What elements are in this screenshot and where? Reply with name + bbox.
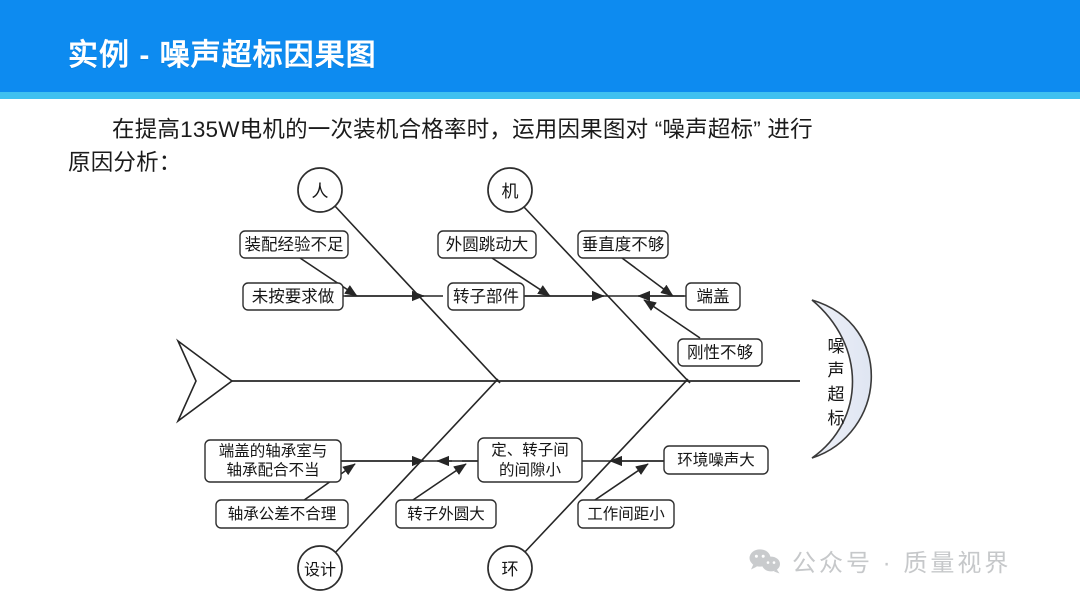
label-chuizhidu: 垂直度不够 bbox=[582, 235, 665, 254]
label-circle-ren: 人 bbox=[312, 182, 329, 201]
label-gangxing: 刚性不够 bbox=[687, 343, 753, 362]
label-duangai-zhoucheng-l1: 端盖的轴承室与 bbox=[219, 442, 328, 460]
cause-boxes bbox=[205, 231, 768, 528]
label-zhoucheng-gongcha: 轴承公差不合理 bbox=[228, 505, 337, 523]
arrow-zhuanzi-waiyuan bbox=[410, 464, 466, 502]
fishbone-diagram: 人 机 设计 环 装配经验不足 未按要求做 外圆跳动大 转子部件 垂直度不够 端… bbox=[0, 0, 1080, 607]
label-huanjing-zaosheng: 环境噪声大 bbox=[677, 450, 755, 469]
label-weian: 未按要求做 bbox=[252, 287, 335, 306]
label-effect-char-3: 超 bbox=[828, 385, 845, 404]
label-waiyuan: 外圆跳动大 bbox=[446, 235, 529, 254]
arrow-chuizhidu bbox=[622, 258, 673, 296]
label-circle-sheji: 设计 bbox=[304, 561, 336, 579]
label-zhuangpei: 装配经验不足 bbox=[245, 235, 344, 254]
label-circle-ji: 机 bbox=[502, 182, 519, 201]
label-ding-zhuanzi-l2: 的间隙小 bbox=[499, 461, 562, 479]
watermark: 公众号 · 质量视界 bbox=[748, 543, 1011, 578]
label-effect-char-1: 噪 bbox=[828, 337, 845, 356]
label-zhuanzi-bujian: 转子部件 bbox=[453, 287, 519, 306]
wechat-icon bbox=[748, 548, 782, 574]
label-gongzuo-jianju: 工作间距小 bbox=[587, 505, 665, 523]
arrow-gongzuo bbox=[592, 464, 648, 502]
label-circle-huan: 环 bbox=[502, 560, 519, 579]
label-zhuanzi-waiyuan: 转子外圆大 bbox=[407, 505, 485, 523]
label-effect-char-4: 标 bbox=[828, 409, 845, 428]
label-effect-char-2: 声 bbox=[828, 361, 845, 380]
slide-canvas: 实例 - 噪声超标因果图 在提高135W电机的一次装机合格率时，运用因果图对 “… bbox=[0, 0, 1080, 607]
label-duangai: 端盖 bbox=[697, 287, 730, 306]
fish-tail bbox=[178, 341, 232, 421]
label-duangai-zhoucheng-l2: 轴承配合不当 bbox=[226, 461, 319, 479]
watermark-text: 公众号 · 质量视界 bbox=[792, 543, 1011, 578]
label-ding-zhuanzi-l1: 定、转子间 bbox=[491, 441, 569, 459]
